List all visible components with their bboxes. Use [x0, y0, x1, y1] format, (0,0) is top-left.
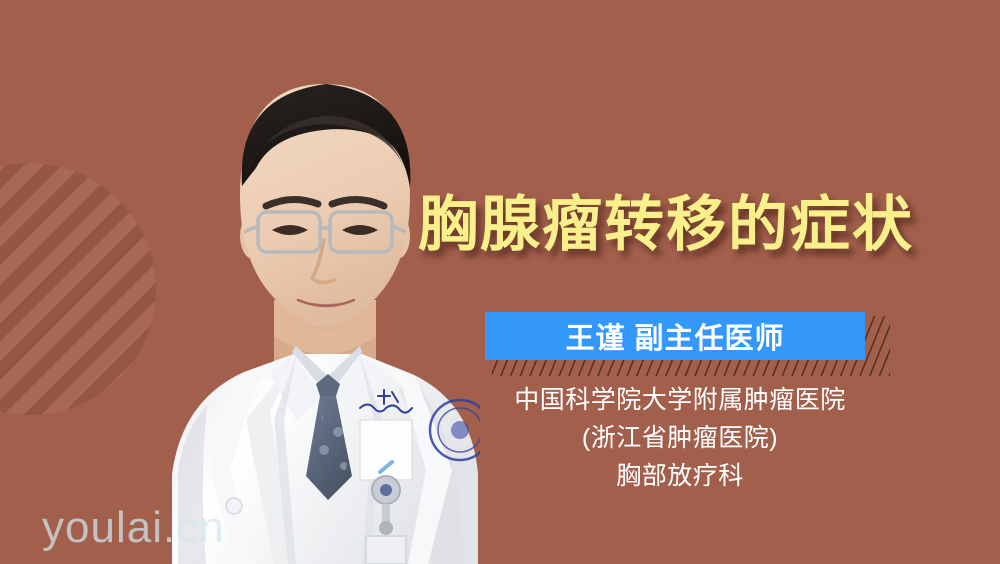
doctor-portrait	[60, 0, 480, 564]
doctor-name-banner: 王谨 副主任医师	[485, 312, 865, 360]
affiliation-block: 中国科学院大学附属肿瘤医院 (浙江省肿瘤医院) 胸部放疗科	[440, 381, 920, 495]
affiliation-line-hospital-alt: (浙江省肿瘤医院)	[440, 419, 920, 457]
page-title: 胸腺瘤转移的症状	[418, 188, 978, 262]
affiliation-line-department: 胸部放疗科	[440, 457, 920, 495]
affiliation-line-hospital: 中国科学院大学附属肿瘤医院	[440, 381, 920, 419]
doctor-name-label: 王谨 副主任医师	[565, 315, 784, 357]
video-cover-card: 胸腺瘤转移的症状 王谨 副主任医师 中国科学院大学附属肿瘤医院 (浙江省肿瘤医院…	[0, 0, 1000, 564]
